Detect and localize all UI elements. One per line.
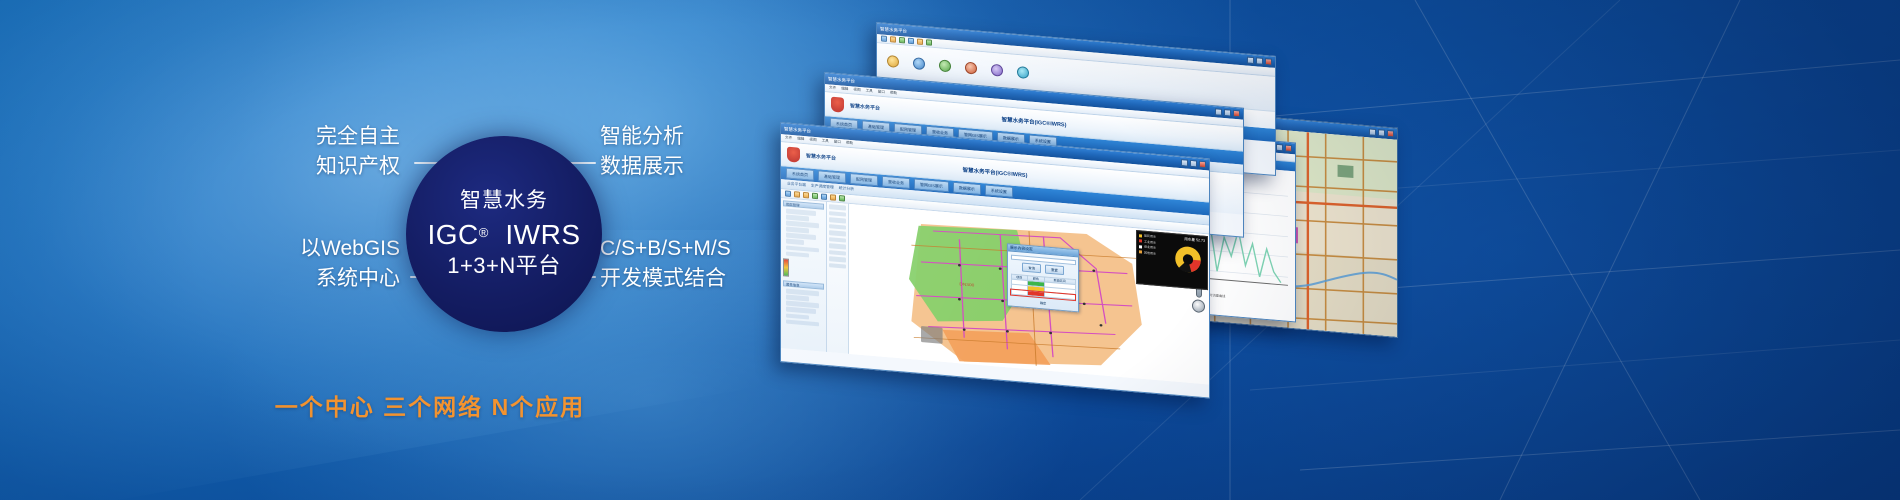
map-settings-dialog[interactable]: 展示内容设定 查询 重置 项目 颜色 数值区间 [1007,243,1079,312]
close-icon[interactable] [1265,58,1272,66]
select-icon[interactable] [812,193,818,200]
layers-tree[interactable] [783,208,824,259]
ribbon-icon-1[interactable] [887,55,899,68]
front-brand-text: 智慧水务平台 [806,152,836,162]
nav-item-6[interactable]: 系统设置 [985,184,1013,197]
save-icon[interactable] [899,37,905,44]
feature-label-top-right-line1: 智能分析 [600,122,684,152]
marketing-banner: 完全自主 知识产权 以WebGIS 系统中心 智能分析 数据展示 C/S+B/S… [0,0,1900,500]
middle-brand-text: 智慧水务平台 [850,102,880,112]
subnav-item-2[interactable]: 统计分析 [839,186,854,192]
legend-label-1: 工业用水 [1144,239,1156,244]
dialog-legend-table: 项目 颜色 数值区间 [1011,274,1076,301]
dialog-body: 查询 重置 项目 颜色 数值区间 [1008,251,1078,310]
legend-row-2: 商业用水 [1139,244,1156,249]
props-list [783,288,824,326]
legend-row-3: 其他用水 [1139,250,1156,255]
nav-item-2[interactable]: 配网管理 [850,173,878,186]
front-window-controls[interactable] [1181,159,1206,168]
center-code-main: IGC [427,219,478,250]
new-icon[interactable] [881,35,887,42]
back-window-controls[interactable] [1247,57,1272,66]
measure-icon[interactable] [821,193,827,200]
feature-item[interactable] [829,250,846,256]
menu-item-edit[interactable]: 编辑 [841,86,848,92]
water-usage-pie-panel[interactable]: 居民用水 工业用水 商业用水 其他用水 用水量 52.73 [1136,230,1208,290]
close-icon[interactable] [1199,161,1206,169]
feature-item[interactable] [829,211,846,217]
feature-label-top-left-line1: 完全自主 [180,122,400,152]
pan-icon[interactable] [785,190,791,197]
layers-panel[interactable]: 图层管理 属性信息 [781,198,827,352]
menu-item-view[interactable]: 视图 [809,137,816,143]
legend-swatch-0 [1139,234,1142,237]
front-system-title: 智慧水务平台(IGC®IWRS) [963,165,1028,179]
legend-gradient-icon [783,258,789,277]
zoom-in-icon[interactable] [794,191,800,198]
menu-item-edit[interactable]: 编辑 [797,136,804,142]
back-window-title: 智慧水务平台 [880,26,907,34]
layer-node[interactable] [786,239,804,245]
ribbon-icon-5[interactable] [991,64,1003,77]
menu-item-file[interactable]: 文件 [785,135,792,141]
print-map-icon[interactable] [839,195,845,202]
legend-swatch-2 [1139,245,1142,248]
feature-label-bottom-right: C/S+B/S+M/S 开发模式结合 [600,234,731,294]
close-icon[interactable] [1387,130,1394,138]
nav-item-3[interactable]: 营收业务 [882,176,910,189]
front-window-title: 智慧水务平台 [784,126,811,134]
subnav-item-1[interactable]: 生产调度管理 [811,184,834,191]
zoom-out-icon[interactable] [803,192,809,199]
close-icon[interactable] [1233,110,1240,118]
middle-system-title: 智慧水务平台(IGC®IWRS) [1002,115,1067,129]
menu-item-view[interactable]: 视图 [853,87,860,93]
pan-compass-icon[interactable] [1192,299,1205,313]
zoom-icon[interactable] [917,38,923,45]
dialog-ok-button[interactable]: 查询 [1022,263,1041,274]
maximize-icon[interactable] [1256,57,1263,65]
legend-swatch-3 [1139,250,1142,253]
subnav-item-0[interactable]: 业务平台端 [787,182,806,189]
middle-window-title: 智慧水务平台 [828,76,855,84]
legend-row-0: 居民用水 [1139,233,1156,238]
minimize-icon[interactable] [1247,57,1254,65]
registered-mark-icon: ® [479,225,489,240]
ribbon-icon-2[interactable] [913,57,925,70]
prop-row [786,319,819,326]
close-icon[interactable] [1285,145,1292,153]
menu-item-window[interactable]: 窗口 [834,140,841,146]
minimize-icon[interactable] [1369,128,1376,136]
center-product-code: IGC® IWRS [427,218,580,251]
feature-item[interactable] [829,224,846,230]
maximize-icon[interactable] [1224,109,1231,117]
feature-label-bottom-left-line2: 系统中心 [160,264,400,294]
minimize-icon[interactable] [1215,108,1222,116]
legend-swatch-1 [1139,239,1142,242]
pie-legend: 居民用水 工业用水 商业用水 其他用水 [1139,233,1156,278]
dialog-cancel-button[interactable]: 重置 [1045,265,1064,276]
feature-item[interactable] [829,263,846,269]
platform-diagram: 完全自主 知识产权 以WebGIS 系统中心 智能分析 数据展示 C/S+B/S… [0,0,820,500]
open-icon[interactable] [890,36,896,43]
company-logo-icon [831,97,844,113]
ribbon-icon-4[interactable] [965,62,977,75]
feature-list-panel[interactable] [827,202,849,354]
citymap-window-controls[interactable] [1369,128,1394,137]
maximize-icon[interactable] [1378,129,1385,137]
menu-item-help[interactable]: 帮助 [846,141,853,147]
center-code-tail: IWRS [505,219,580,250]
feature-label-top-right-line2: 数据展示 [600,152,684,182]
nav-item-1[interactable]: 基础管理 [818,170,846,183]
company-logo-icon [787,147,800,163]
feature-item[interactable] [829,230,846,236]
platform-center-circle: 智慧水务 IGC® IWRS 1+3+N平台 [406,136,602,332]
print-icon[interactable] [908,38,914,45]
feature-label-bottom-left-line1: 以WebGIS [160,234,400,264]
center-product-name: 智慧水务 [460,189,548,214]
feature-item[interactable] [829,243,846,249]
legend-label-0: 居民用水 [1144,234,1156,239]
menu-item-help[interactable]: 帮助 [890,91,897,97]
legend-label-3: 其他用水 [1144,250,1156,255]
legend-label-2: 商业用水 [1144,245,1156,250]
identify-icon[interactable] [830,194,836,201]
menu-item-tools[interactable]: 工具 [822,139,829,145]
center-platform-model: 1+3+N平台 [447,253,561,279]
layer-node[interactable] [786,251,809,257]
feature-label-bottom-right-line1: C/S+B/S+M/S [600,234,731,264]
nav-item-5[interactable]: 数据展示 [953,182,981,195]
prop-row [786,313,809,319]
feature-label-top-left-line2: 知识产权 [180,152,400,182]
ribbon-icon-6[interactable] [1017,66,1029,79]
feature-label-bottom-left: 以WebGIS 系统中心 [160,234,400,294]
maximize-icon[interactable] [1190,160,1197,168]
layer-icon[interactable] [926,39,932,46]
menu-item-file[interactable]: 文件 [829,85,836,91]
legend-row-1: 工业用水 [1139,239,1156,244]
feature-label-top-right: 智能分析 数据展示 [600,122,684,182]
banner-tagline: 一个中心 三个网络 N个应用 [150,388,710,422]
ribbon-icon-3[interactable] [939,59,951,72]
feature-label-bottom-right-line2: 开发模式结合 [600,264,731,294]
feature-item[interactable] [829,204,846,210]
feature-item[interactable] [829,237,846,243]
maximize-icon[interactable] [1276,144,1283,152]
feature-label-top-left: 完全自主 知识产权 [180,122,400,182]
water-usage-donut-chart [1171,241,1205,278]
menu-item-window[interactable]: 窗口 [878,90,885,96]
feature-item[interactable] [829,217,846,223]
menu-item-tools[interactable]: 工具 [866,89,873,95]
minimize-icon[interactable] [1181,159,1188,167]
swatch-red [1028,291,1044,296]
nav-item-0[interactable]: 系统首页 [786,168,814,181]
screenshot-stack: 城市管网分布图 [780,0,1900,500]
feature-item[interactable] [829,256,846,262]
middle-window-controls[interactable] [1215,108,1240,117]
